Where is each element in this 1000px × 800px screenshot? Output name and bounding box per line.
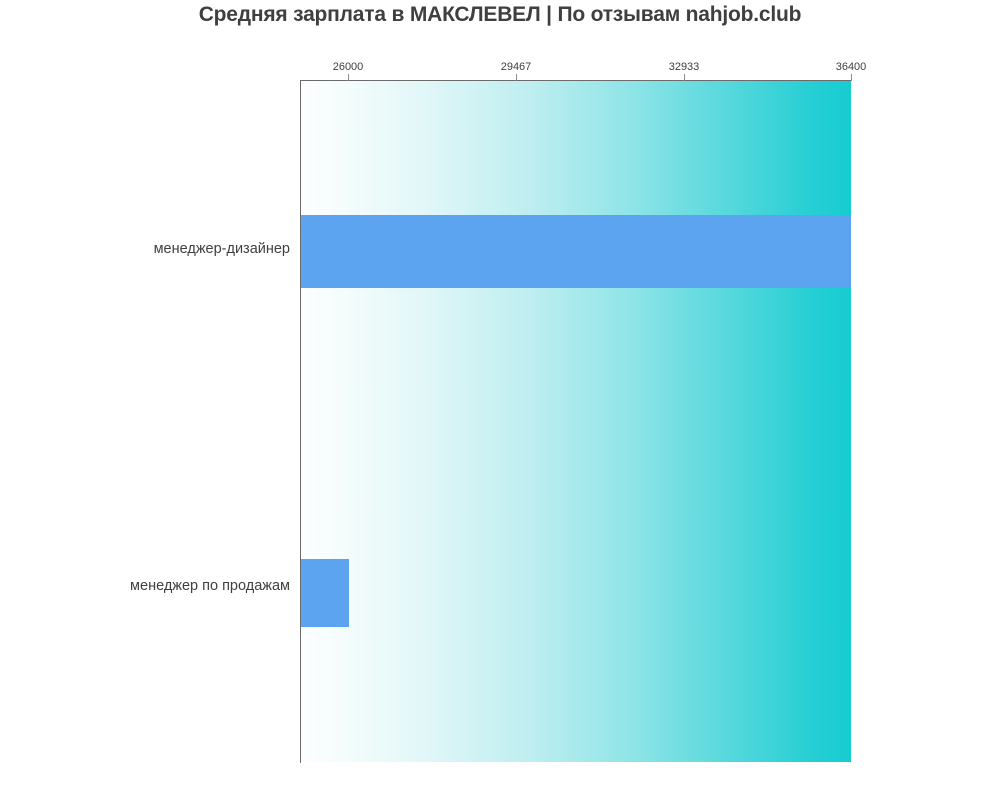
y-axis-line	[300, 80, 301, 763]
salary-bar-chart: Средняя зарплата в МАКСЛЕВЕЛ | По отзыва…	[0, 0, 1000, 800]
bar-manager-designer[interactable]	[301, 215, 851, 288]
x-tick-mark-2	[684, 74, 685, 81]
x-tick-label-3: 36400	[836, 61, 867, 73]
category-label-1: менеджер по продажам	[130, 578, 290, 594]
bar-sales-manager[interactable]	[301, 559, 349, 627]
x-tick-mark-0	[348, 74, 349, 81]
x-tick-label-2: 32933	[669, 61, 700, 73]
x-axis-line	[300, 80, 851, 81]
x-tick-label-1: 29467	[501, 61, 532, 73]
chart-title: Средняя зарплата в МАКСЛЕВЕЛ | По отзыва…	[0, 3, 1000, 27]
x-tick-label-0: 26000	[333, 61, 364, 73]
category-label-0: менеджер-дизайнер	[154, 241, 290, 257]
plot-area	[301, 81, 851, 762]
x-tick-mark-1	[516, 74, 517, 81]
x-tick-mark-3	[851, 74, 852, 81]
